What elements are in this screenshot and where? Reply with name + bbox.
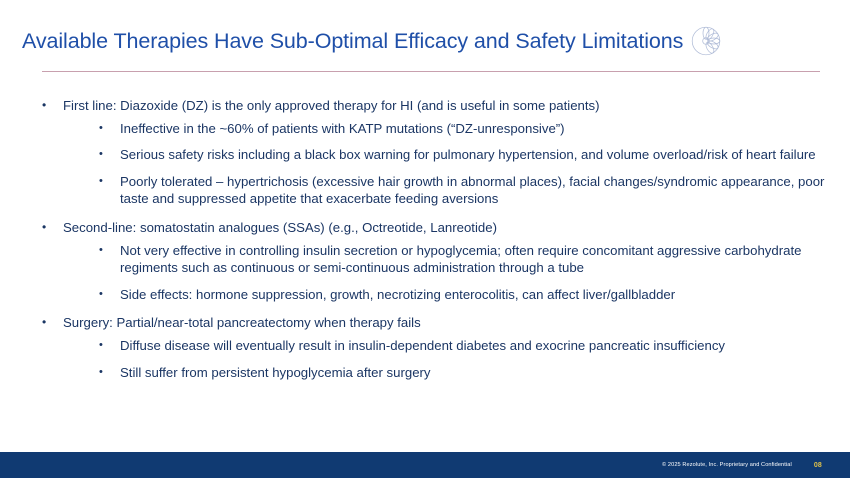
bullet-marker-icon: • bbox=[99, 146, 103, 164]
mandala-flower-logo-icon bbox=[691, 26, 721, 56]
bullet-marker-icon: • bbox=[42, 219, 46, 237]
footer-bar: © 2025 Rezolute, Inc. Proprietary and Co… bbox=[0, 452, 850, 478]
list-item: • Side effects: hormone suppression, gro… bbox=[42, 286, 842, 304]
list-item: • Serious safety risks including a black… bbox=[42, 146, 842, 164]
list-item-text: First line: Diazoxide (DZ) is the only a… bbox=[63, 97, 842, 115]
list-item: • Surgery: Partial/near-total pancreatec… bbox=[42, 314, 842, 332]
list-item: • Still suffer from persistent hypoglyce… bbox=[42, 364, 842, 382]
list-item: • Second-line: somatostatin analogues (S… bbox=[42, 219, 842, 237]
list-item-text: Second-line: somatostatin analogues (SSA… bbox=[63, 219, 842, 237]
list-item: • Not very effective in controlling insu… bbox=[42, 242, 842, 277]
bullet-list: • First line: Diazoxide (DZ) is the only… bbox=[42, 97, 842, 390]
title-row: Available Therapies Have Sub-Optimal Eff… bbox=[22, 22, 828, 60]
copyright-text: © 2025 Rezolute, Inc. Proprietary and Co… bbox=[662, 461, 792, 469]
page-title: Available Therapies Have Sub-Optimal Eff… bbox=[22, 28, 683, 54]
slide: Available Therapies Have Sub-Optimal Eff… bbox=[0, 0, 850, 478]
bullet-marker-icon: • bbox=[42, 314, 46, 332]
list-item-text: Not very effective in controlling insuli… bbox=[120, 242, 842, 277]
bullet-marker-icon: • bbox=[99, 173, 103, 191]
list-item: • First line: Diazoxide (DZ) is the only… bbox=[42, 97, 842, 115]
list-item-text: Serious safety risks including a black b… bbox=[120, 146, 842, 164]
bullet-marker-icon: • bbox=[99, 120, 103, 138]
list-item-text: Still suffer from persistent hypoglycemi… bbox=[120, 364, 842, 382]
list-item-text: Poorly tolerated – hypertrichosis (exces… bbox=[120, 173, 842, 208]
list-item: • Diffuse disease will eventually result… bbox=[42, 337, 842, 355]
footer-content: © 2025 Rezolute, Inc. Proprietary and Co… bbox=[662, 452, 850, 478]
list-item-text: Diffuse disease will eventually result i… bbox=[120, 337, 842, 355]
page-number: 08 bbox=[814, 462, 822, 469]
title-divider bbox=[42, 71, 820, 72]
list-item-text: Side effects: hormone suppression, growt… bbox=[120, 286, 842, 304]
bullet-marker-icon: • bbox=[99, 286, 103, 304]
bullet-marker-icon: • bbox=[99, 242, 103, 260]
list-item: • Poorly tolerated – hypertrichosis (exc… bbox=[42, 173, 842, 208]
list-item-text: Surgery: Partial/near-total pancreatecto… bbox=[63, 314, 842, 332]
bullet-marker-icon: • bbox=[42, 97, 46, 115]
list-item-text: Ineffective in the ~60% of patients with… bbox=[120, 120, 842, 138]
list-item: • Ineffective in the ~60% of patients wi… bbox=[42, 120, 842, 138]
bullet-marker-icon: • bbox=[99, 337, 103, 355]
bullet-marker-icon: • bbox=[99, 364, 103, 382]
